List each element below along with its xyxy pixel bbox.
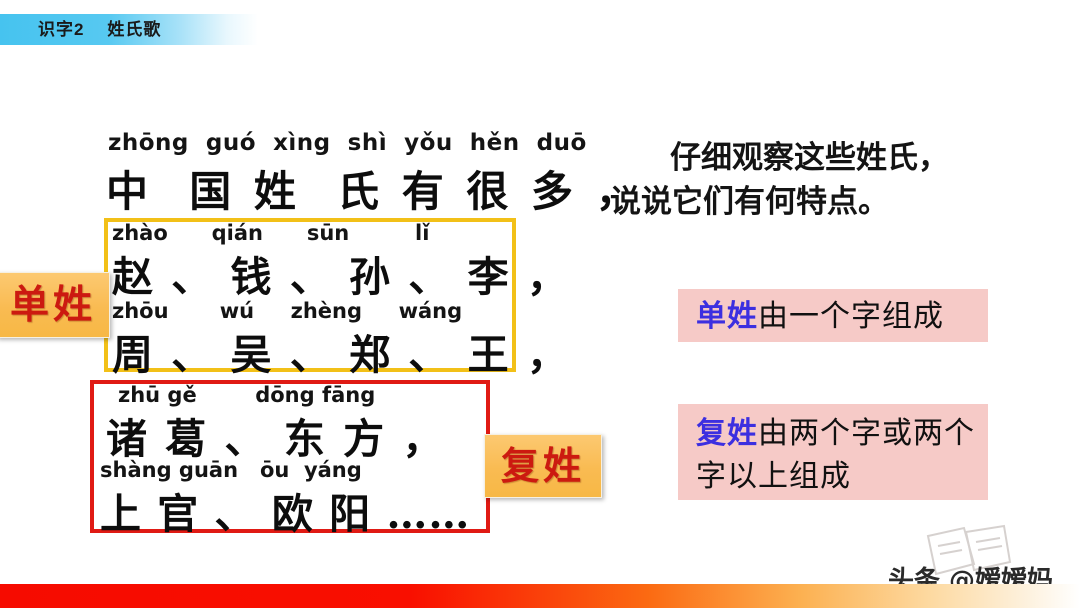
single-surname-row1-hanzi: 赵 、 钱 、 孙 、 李 ， — [112, 243, 570, 303]
single-surname-row2-pinyin: zhōu wú zhèng wáng — [112, 299, 462, 323]
definition-card-single-text: 由一个字组成 — [758, 299, 944, 334]
compound-surname-row1-hanzi: 诸 葛 、 东 方 ， — [106, 405, 445, 465]
single-surname-row1-pinyin: zhào qián sūn lǐ — [112, 221, 429, 245]
page-title: 识字2 姓氏歌 — [38, 16, 161, 44]
definition-card-compound-term: 复姓 — [696, 416, 758, 451]
compound-surname-row1-pinyin: zhū gě dōng fāng — [118, 383, 375, 407]
badge-single-surname: 单姓 — [0, 272, 110, 338]
observation-prompt-line2: 说说它们有何特点。 — [610, 180, 1048, 224]
definition-card-single-term: 单姓 — [696, 299, 758, 334]
definition-card-compound: 复姓由两个字或两个字以上组成 — [678, 404, 988, 500]
definition-card-single: 单姓由一个字组成 — [678, 289, 988, 342]
observation-prompt: 仔细观察这些姓氏， 说说它们有何特点。 — [648, 136, 1048, 224]
observation-prompt-line1: 仔细观察这些姓氏， — [648, 136, 1048, 180]
badge-compound-surname: 复姓 — [484, 434, 602, 498]
compound-surname-row2-pinyin: shàng guān ōu yáng — [100, 458, 362, 482]
line1-hanzi: 中 国 姓 氏 有 很 多 ， — [106, 158, 642, 219]
footer-bar — [0, 584, 1080, 608]
slide-canvas: 识字2 姓氏歌 zhōng guó xìng shì yǒu hěn duō 中… — [0, 0, 1080, 608]
single-surname-row2-hanzi: 周 、 吴 、 郑 、 王 ， — [112, 321, 570, 381]
line1-pinyin: zhōng guó xìng shì yǒu hěn duō — [108, 130, 587, 156]
compound-surname-row2-hanzi: 上 官 、 欧 阳 …… — [100, 480, 470, 540]
